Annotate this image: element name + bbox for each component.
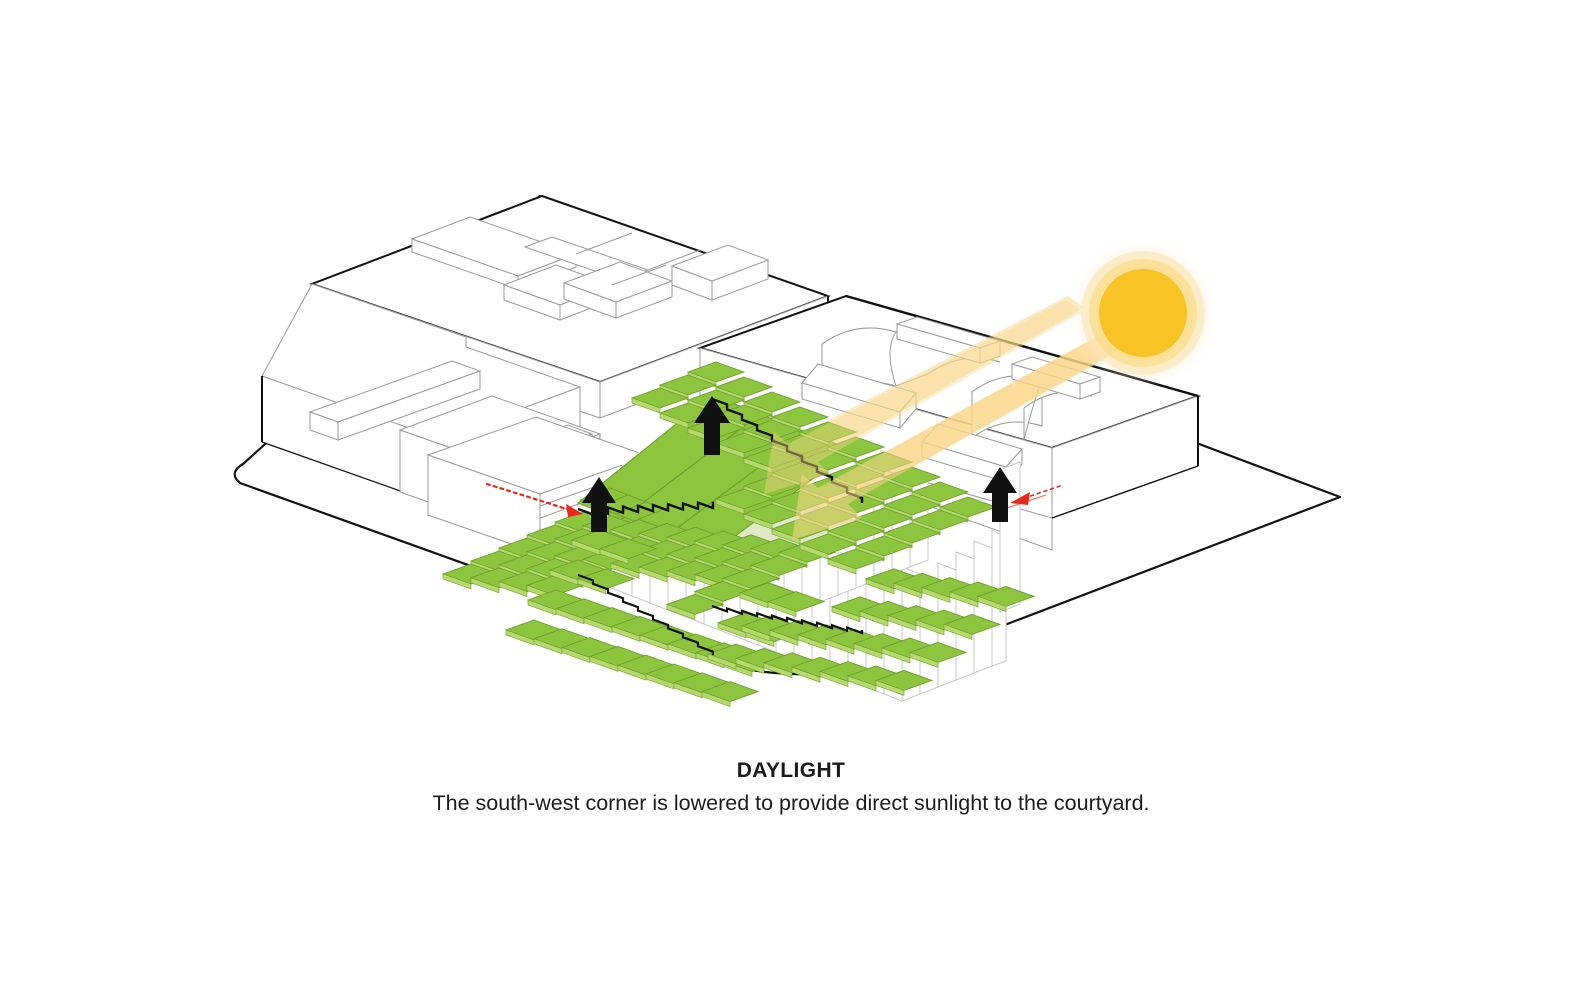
sun-core [1099, 269, 1187, 357]
daylight-diagram: DAYLIGHT The south-west corner is lowere… [0, 0, 1582, 989]
caption-block: DAYLIGHT The south-west corner is lowere… [0, 758, 1582, 818]
caption-title: DAYLIGHT [0, 758, 1582, 784]
sun [1069, 239, 1217, 387]
axonometric-scene [0, 0, 1582, 989]
caption-description: The south-west corner is lowered to prov… [0, 788, 1582, 818]
